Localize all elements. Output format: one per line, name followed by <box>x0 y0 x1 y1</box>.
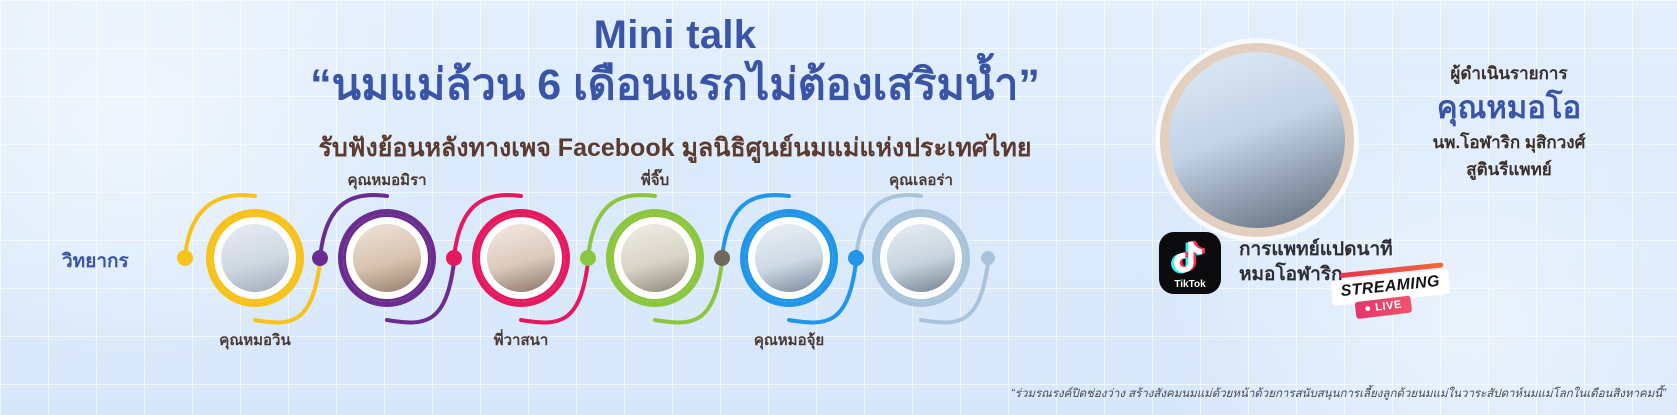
speaker-name-2: พี่วาสนา <box>494 328 549 352</box>
host-full-name: นพ.โอฬาริก มุสิกวงศ์ <box>1359 132 1659 155</box>
speaker-avatar-0[interactable] <box>211 214 299 302</box>
headline-block: Mini talk “นมแม่ล้วน 6 เดือนแรกไม่ต้องเส… <box>210 14 1140 168</box>
speaker-avatar-5[interactable] <box>877 214 965 302</box>
kicker-mini-talk: Mini talk <box>210 14 1140 56</box>
tiktok-note-glyph <box>1159 238 1217 274</box>
host-role-label: ผู้ดำเนินรายการ <box>1359 60 1659 87</box>
speaker-avatar-1[interactable] <box>343 214 431 302</box>
avatar <box>884 221 958 295</box>
tiktok-logo-label: TikTok <box>1174 279 1205 294</box>
speaker-avatar-3[interactable] <box>611 214 699 302</box>
tiktok-channel-line-1: การแพทย์แปดนาที <box>1239 238 1393 263</box>
mini-talk-banner: Mini talk “นมแม่ล้วน 6 เดือนแรกไม่ต้องเส… <box>0 0 1677 415</box>
avatar <box>350 221 424 295</box>
host-nickname: คุณหมอโอ <box>1359 89 1659 128</box>
headline-subtitle: รับฟังย้อนหลังทางเพจ Facebook มูลนิธิศูน… <box>210 128 1140 168</box>
host-specialty: สูตินรีแพทย์ <box>1359 159 1659 182</box>
speakers-section: วิทยากร คุณหมอวิ <box>0 180 1060 350</box>
host-text-block: ผู้ดำเนินรายการ คุณหมอโอ นพ.โอฬาริก มุสิ… <box>1359 60 1659 182</box>
page-title: “นมแม่ล้วน 6 เดือนแรกไม่ต้องเสริมน้ำ” <box>210 56 1140 114</box>
speaker-name-0: คุณหมอวิน <box>219 328 290 352</box>
speaker-name-5: คุณเลอร่า <box>889 168 953 192</box>
avatar <box>218 221 292 295</box>
speaker-avatar-4[interactable] <box>745 214 833 302</box>
avatar <box>618 221 692 295</box>
tiktok-icon[interactable]: TikTok <box>1159 232 1221 294</box>
speaker-name-3: พี่จิ๊บ <box>641 168 669 192</box>
host-panel: ผู้ดำเนินรายการ คุณหมอโอ นพ.โอฬาริก มุสิ… <box>1147 0 1667 415</box>
avatar <box>752 221 826 295</box>
host-avatar[interactable] <box>1169 52 1345 228</box>
avatar <box>484 221 558 295</box>
speaker-avatar-2[interactable] <box>477 214 565 302</box>
speaker-name-1: คุณหมอมิรา <box>347 168 426 192</box>
speaker-name-4: คุณหมอจุ้ย <box>754 328 824 352</box>
footer-campaign-note: “ร่วมรณรงค์ปิดช่องว่าง สร้างสังคมนมแม่ด้… <box>836 385 1666 403</box>
